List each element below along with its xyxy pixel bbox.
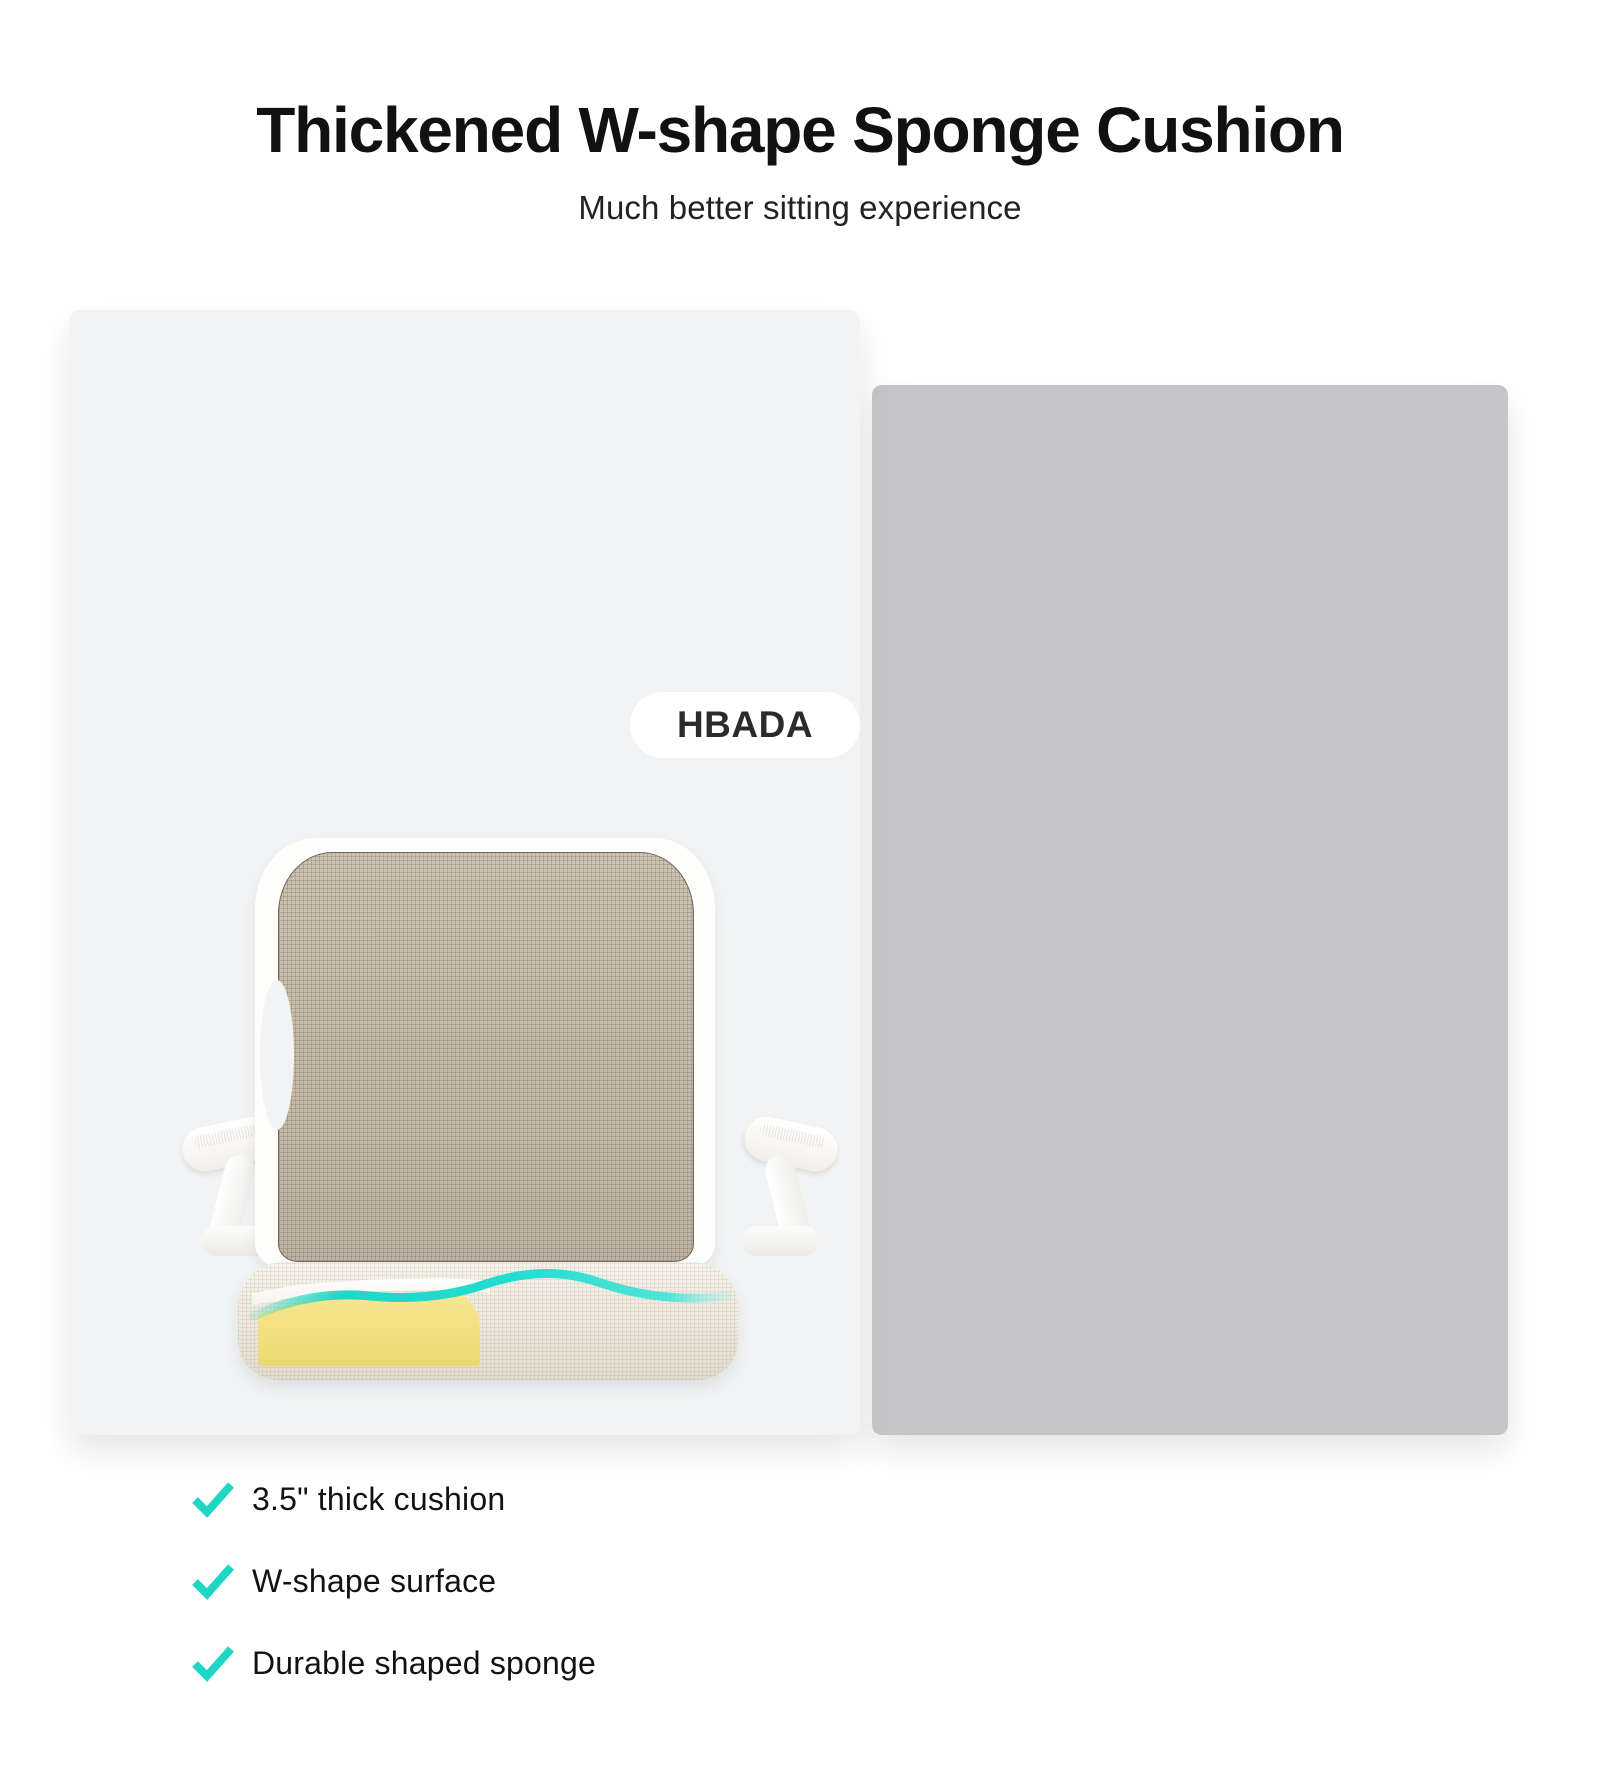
feature-row: Durable shaped sponge — [190, 1622, 810, 1704]
backrest-waist-left — [260, 980, 294, 1130]
comparison-panel-hbada: HBADA 3.5" thick cushion W-shape surface — [70, 310, 860, 1435]
header: Thickened W-shape Sponge Cushion Much be… — [0, 0, 1600, 227]
backrest-waist-right — [726, 980, 760, 1130]
feature-row: W-shape surface — [190, 1540, 810, 1622]
comparison-panel-others: Others Thin and hard Flat surface — [872, 385, 1508, 1435]
check-icon — [190, 1643, 252, 1683]
armrest-foot — [742, 1226, 818, 1256]
hbada-chair-illustration — [190, 830, 830, 1430]
badge-hbada: HBADA — [630, 692, 860, 758]
hbada-seat-cushion — [238, 1262, 738, 1380]
feature-label: W-shape surface — [252, 1563, 496, 1600]
w-shape-wave-icon — [238, 1262, 738, 1380]
check-icon — [190, 1479, 252, 1519]
check-icon — [190, 1561, 252, 1601]
feature-label: 3.5" thick cushion — [252, 1481, 505, 1518]
hbada-armrest-right — [722, 1122, 840, 1252]
feature-row: 3.5" thick cushion — [190, 1458, 810, 1540]
page-subtitle: Much better sitting experience — [0, 189, 1600, 227]
page-title: Thickened W-shape Sponge Cushion — [0, 96, 1600, 165]
feature-list-hbada: 3.5" thick cushion W-shape surface Durab… — [190, 1458, 810, 1704]
hbada-backrest-mesh — [278, 852, 694, 1262]
feature-label: Durable shaped sponge — [252, 1645, 596, 1682]
